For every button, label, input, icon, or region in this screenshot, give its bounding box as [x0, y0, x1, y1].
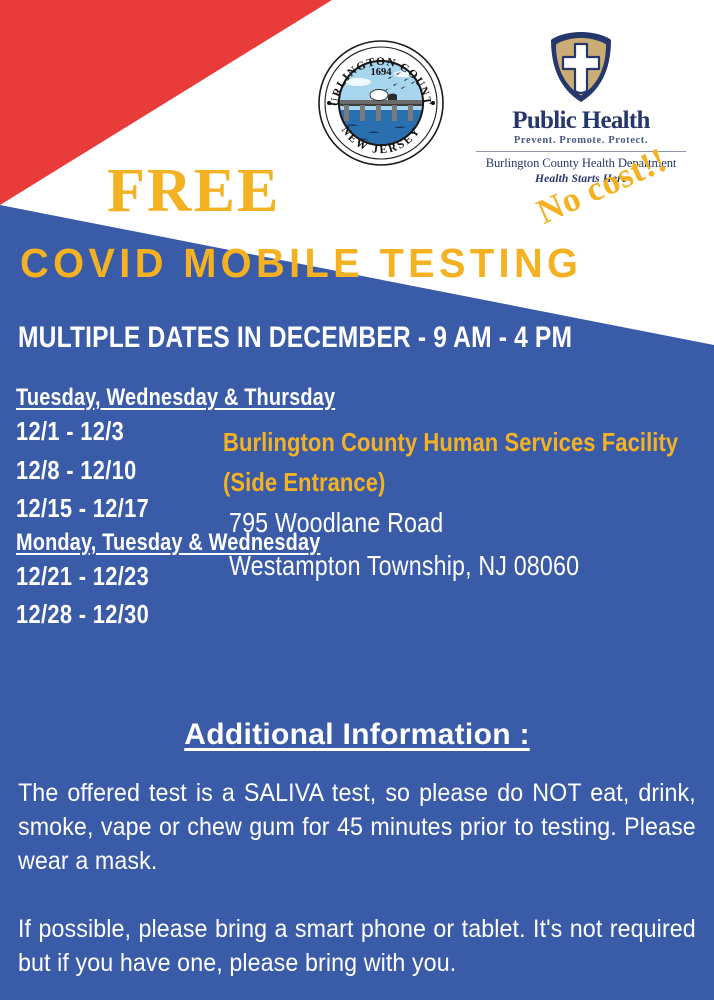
schedule-days-heading: Tuesday, Wednesday & Thursday — [16, 383, 589, 412]
venue-name: Burlington County Human Services Facilit… — [223, 423, 637, 463]
schedule-date: 12/28 - 12/30 — [16, 595, 596, 633]
page-title: COVID MOBILE TESTING — [20, 243, 582, 284]
flyer-poster: BURLINGTON COUNTY NEW JERSEY 1694 Public… — [0, 0, 714, 1000]
shield-cross-icon — [548, 30, 614, 104]
free-heading: FREE — [107, 160, 280, 222]
svg-text:1694: 1694 — [371, 67, 393, 78]
info-paragraph: If possible, please bring a smart phone … — [18, 912, 696, 980]
additional-information-section: Additional Information : The offered tes… — [18, 718, 696, 980]
venue-street: 795 Woodlane Road — [229, 502, 631, 545]
public-health-wordmark: Public Health — [462, 108, 700, 134]
venue-block: Burlington County Human Services Facilit… — [223, 423, 713, 587]
info-paragraph: The offered test is a SALIVA test, so pl… — [18, 776, 696, 878]
burlington-county-seal-icon: BURLINGTON COUNTY NEW JERSEY 1694 — [316, 38, 446, 168]
venue-entrance-note: (Side Entrance) — [223, 463, 637, 503]
schedule-summary-subtitle: MULTIPLE DATES IN DECEMBER - 9 AM - 4 PM — [18, 323, 572, 353]
venue-city-state-zip: Westampton Township, NJ 08060 — [229, 545, 631, 588]
public-health-tagline: Prevent. Promote. Protect. — [462, 135, 700, 146]
additional-information-heading: Additional Information : — [18, 718, 696, 752]
